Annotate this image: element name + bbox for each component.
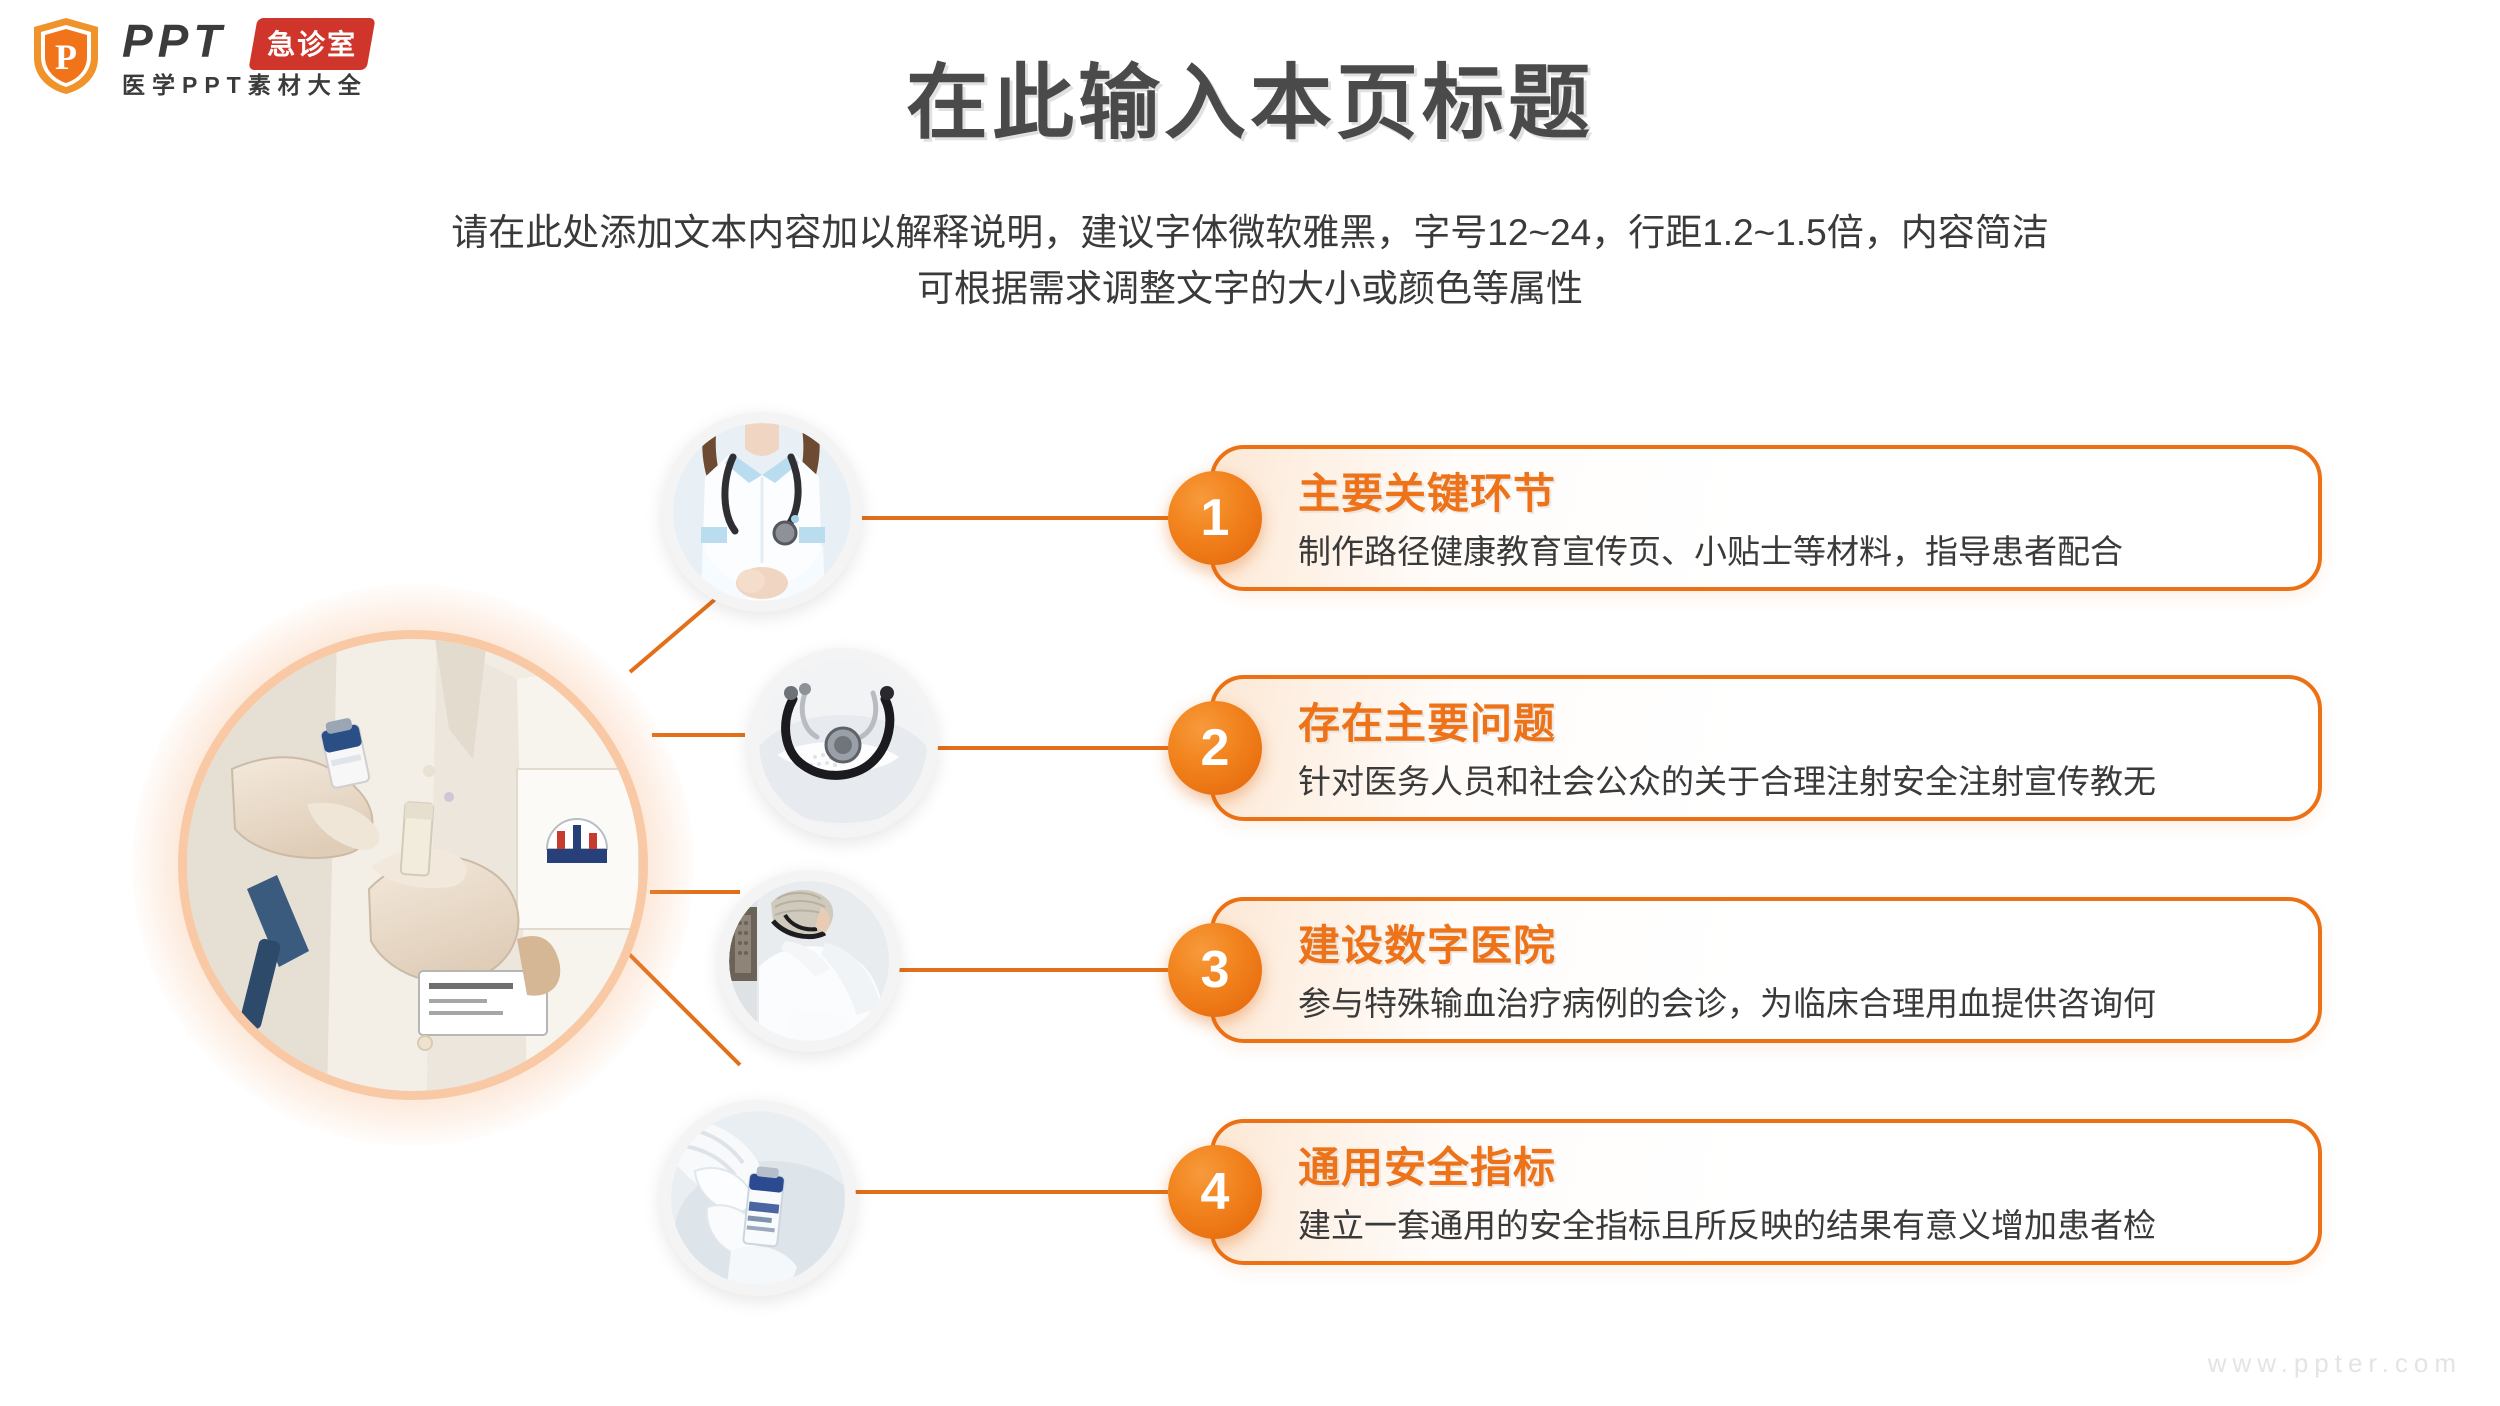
thumb-surgeon <box>718 870 900 1052</box>
item-desc-3: 参与特殊输血治疗病例的会诊，为临床合理用血提供咨询何 <box>1298 977 2156 1025</box>
item-heading-4: 通用安全指标 <box>1298 1134 1556 1195</box>
item-number-3: 3 <box>1201 944 1230 996</box>
page-subtitle: 请在此处添加文本内容加以解释说明，建议字体微软雅黑，字号12~24，行距1.2~… <box>0 205 2500 317</box>
hero-image-circle <box>178 630 648 1100</box>
item-heading-3: 建设数字医院 <box>1298 912 1556 973</box>
item-desc-4: 建立一套通用的安全指标且所反映的结果有意义增加患者检 <box>1298 1199 2156 1247</box>
item-number-4: 4 <box>1201 1166 1230 1218</box>
item-heading-1: 主要关键环节 <box>1298 460 1556 521</box>
subtitle-line-1: 请在此处添加文本内容加以解释说明，建议字体微软雅黑，字号12~24，行距1.2~… <box>0 205 2500 261</box>
hero-photo-doctor-vial <box>187 639 639 1091</box>
item-desc-2: 针对医务人员和社会公众的关于合理注射安全注射宣传教无 <box>1298 755 2156 803</box>
item-badge-2: 2 <box>1168 701 1262 795</box>
item-number-1: 1 <box>1201 492 1230 544</box>
site-watermark: www.ppter.com <box>2208 1348 2462 1379</box>
page-title: 在此输入本页标题 <box>0 36 2500 155</box>
item-number-2: 2 <box>1201 722 1230 774</box>
thumb-stethoscope <box>748 648 938 838</box>
thumb-nurse <box>662 412 862 612</box>
thumb-vaccine-vial <box>660 1100 856 1296</box>
item-badge-1: 1 <box>1168 471 1262 565</box>
subtitle-line-2: 可根据需求调整文字的大小或颜色等属性 <box>0 261 2500 317</box>
item-heading-2: 存在主要问题 <box>1298 690 1556 751</box>
item-badge-3: 3 <box>1168 923 1262 1017</box>
slide-canvas: P PPT 急诊室 医学PPT素材大全 在此输入本页标题 请在此处添加文本内容加… <box>0 0 2500 1406</box>
item-badge-4: 4 <box>1168 1145 1262 1239</box>
hero-ring <box>178 630 648 1100</box>
item-desc-1: 制作路径健康教育宣传页、小贴士等材料，指导患者配合 <box>1298 525 2123 573</box>
